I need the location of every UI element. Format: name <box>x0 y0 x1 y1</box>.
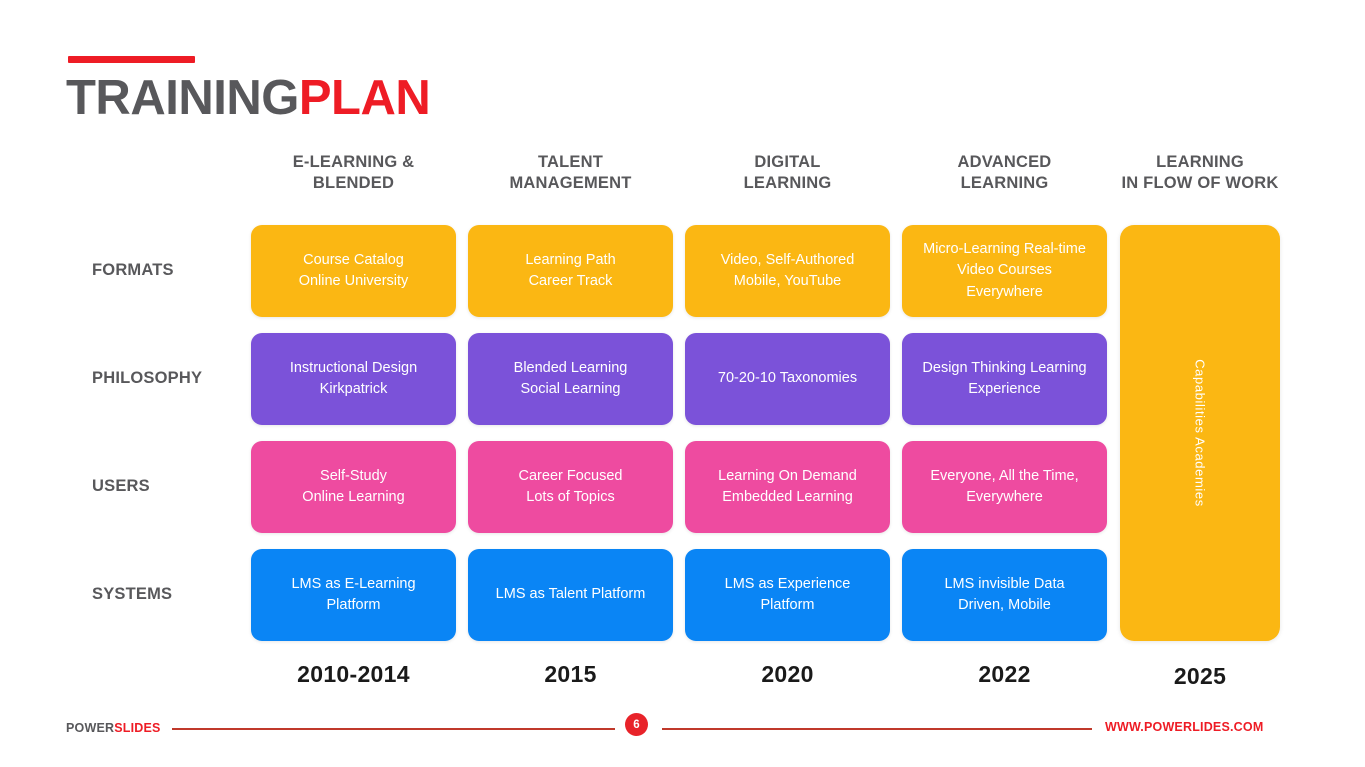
slide: TRAININGPLAN E-LEARNING & BLENDED TALENT… <box>0 0 1365 767</box>
footer-divider-left <box>172 728 615 730</box>
footer-brand-part1: POWER <box>66 721 114 735</box>
footer-divider-right <box>662 728 1092 730</box>
year-label-2022: 2022 <box>882 661 1127 688</box>
footer: POWERSLIDES WWW.POWERLIDES.COM <box>0 712 1365 752</box>
footer-brand: POWERSLIDES <box>66 721 161 735</box>
year-label-2010-2014: 2010-2014 <box>231 661 476 688</box>
footer-brand-part2: SLIDES <box>114 721 160 735</box>
year-label-2015: 2015 <box>448 661 693 688</box>
footer-url: WWW.POWERLIDES.COM <box>1105 720 1263 734</box>
year-labels: 2010-2014 2015 2020 2022 2025 <box>0 0 1365 767</box>
page-number-badge: 6 <box>625 713 648 736</box>
year-label-2020: 2020 <box>665 661 910 688</box>
year-label-2025: 2025 <box>1100 663 1300 690</box>
